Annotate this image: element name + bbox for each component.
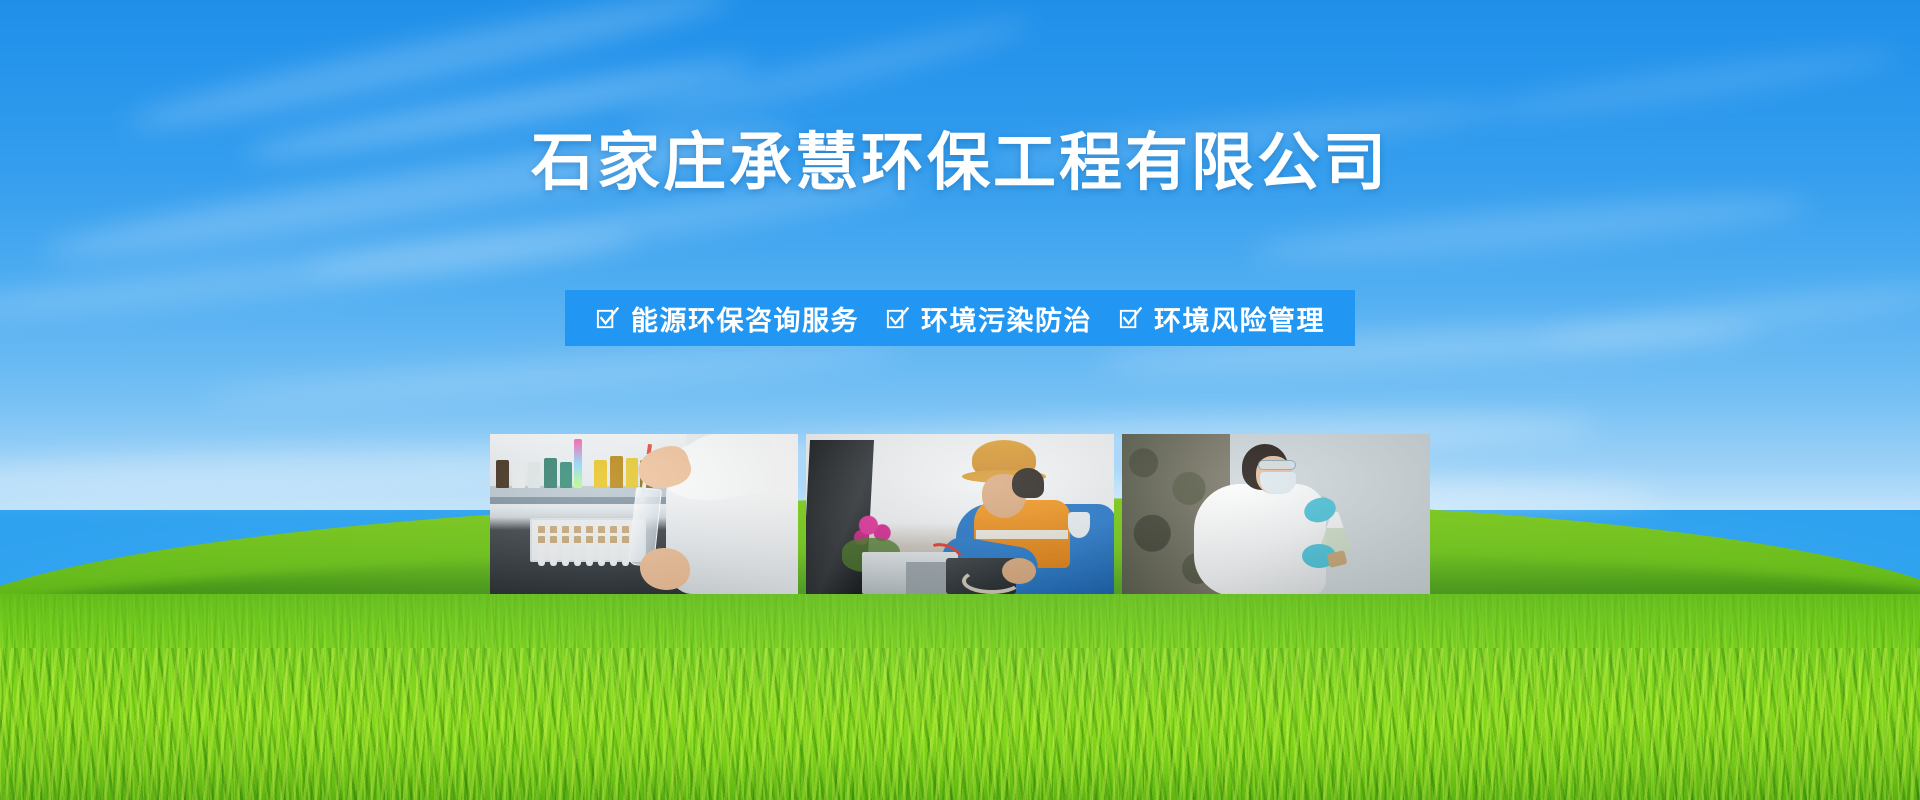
field-monitoring-photo[interactable] (806, 434, 1114, 594)
company-hero-banner: 石家庄承慧环保工程有限公司 能源环保咨询服务 环境污染防治 (0, 0, 1920, 800)
checkbox-checked-icon (595, 306, 620, 331)
cloud-wisp-icon (200, 336, 900, 415)
service-item-pollution-control[interactable]: 环境污染防治 (885, 299, 1092, 338)
service-tagline-bar: 能源环保咨询服务 环境污染防治 环境风险管理 (565, 290, 1355, 346)
cloud-wisp-icon (623, 10, 1037, 137)
laboratory-testing-photo[interactable] (490, 434, 798, 594)
service-item-energy-consulting[interactable]: 能源环保咨询服务 (595, 299, 859, 338)
checkbox-checked-icon (1118, 306, 1143, 331)
cloud-wisp-icon (123, 0, 738, 144)
water-sampling-photo[interactable] (1122, 434, 1430, 594)
service-label: 能源环保咨询服务 (631, 299, 859, 338)
cloud-wisp-icon (0, 219, 640, 332)
service-item-risk-management[interactable]: 环境风险管理 (1118, 299, 1325, 338)
page-title: 石家庄承慧环保工程有限公司 (0, 131, 1920, 194)
cloud-wisp-icon (1540, 275, 1920, 356)
photo-tint (1122, 434, 1430, 594)
service-label: 环境风险管理 (1154, 299, 1325, 338)
service-label: 环境污染防治 (921, 299, 1092, 338)
photo-strip (490, 434, 1430, 594)
photo-tint (806, 434, 1114, 594)
photo-tint (490, 434, 798, 594)
cloud-wisp-icon (1480, 41, 1900, 127)
checkbox-checked-icon (885, 306, 910, 331)
